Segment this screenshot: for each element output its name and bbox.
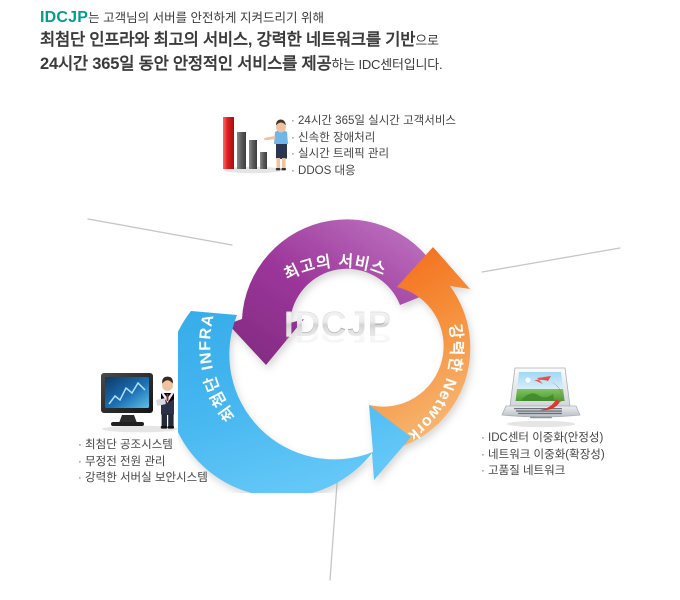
header-line-1-text: 는 고객님의 서버를 안전하게 지켜드리기 위해 — [88, 11, 324, 25]
list-item: IDC센터 이중화(안정성) — [481, 430, 605, 447]
list-item: 고품질 네트워크 — [481, 463, 605, 480]
header-line-2-strong: 최첨단 인프라와 최고의 서비스, 강력한 네트워크를 기반 — [40, 31, 415, 49]
connector-line-right — [482, 248, 620, 272]
list-item: 강력한 서버실 보안시스템 — [78, 470, 208, 487]
callout-service: 24시간 365일 실시간 고객서비스 신속한 장애처리 실시간 트레픽 관리 … — [291, 113, 456, 179]
list-item: 신속한 장애처리 — [291, 130, 456, 147]
header-line-1: IDCJP는 고객님의 서버를 안전하게 지켜드리기 위해 — [40, 6, 640, 29]
header-line-3-strong: 24시간 365일 동안 안정적인 서비스를 제공 — [40, 55, 332, 73]
header-line-3-tail: 하는 IDC센터입니다. — [332, 57, 443, 72]
infographic-canvas: IDCJP는 고객님의 서버를 안전하게 지켜드리기 위해 최첨단 인프라와 최… — [0, 0, 680, 600]
center-logo-group: IDCJP IDCJP — [178, 305, 498, 386]
list-item: 최첨단 공조시스템 — [78, 437, 208, 454]
laptop-refresh-arrow-icon — [500, 358, 582, 430]
callout-network-list: IDC센터 이중화(안정성) 네트워크 이중화(확장성) 고품질 네트워크 — [481, 430, 605, 480]
list-item: 무정전 전원 관리 — [78, 454, 208, 471]
list-item: 네트워크 이중화(확장성) — [481, 447, 605, 464]
header-text-block: IDCJP는 고객님의 서버를 안전하게 지켜드리기 위해 최첨단 인프라와 최… — [40, 6, 640, 77]
cycle-diagram: 최고의 서비스 강력한 Network 최첨단 INFRA IDCJP IDCJ… — [178, 193, 498, 493]
list-item: DDOS 대응 — [291, 163, 456, 180]
callout-network: IDC센터 이중화(안정성) 네트워크 이중화(확장성) 고품질 네트워크 — [481, 430, 605, 480]
callout-service-list: 24시간 365일 실시간 고객서비스 신속한 장애처리 실시간 트레픽 관리 … — [291, 113, 456, 179]
list-item: 24시간 365일 실시간 고객서비스 — [291, 113, 456, 130]
brand-name: IDCJP — [40, 9, 88, 26]
header-line-2-tail: 으로 — [415, 33, 439, 48]
callout-infra-list: 최첨단 공조시스템 무정전 전원 관리 강력한 서버실 보안시스템 — [78, 437, 208, 487]
desktop-monitor-businessman-icon — [98, 366, 184, 434]
callout-infra: 최첨단 공조시스템 무정전 전원 관리 강력한 서버실 보안시스템 — [78, 437, 208, 487]
center-logo-reflection: IDCJP — [178, 324, 498, 346]
bar-chart-presenter-icon — [219, 112, 291, 174]
header-line-2: 최첨단 인프라와 최고의 서비스, 강력한 네트워크를 기반으로 — [40, 29, 640, 53]
header-line-3: 24시간 365일 동안 안정적인 서비스를 제공하는 IDC센터입니다. — [40, 53, 640, 77]
list-item: 실시간 트레픽 관리 — [291, 146, 456, 163]
